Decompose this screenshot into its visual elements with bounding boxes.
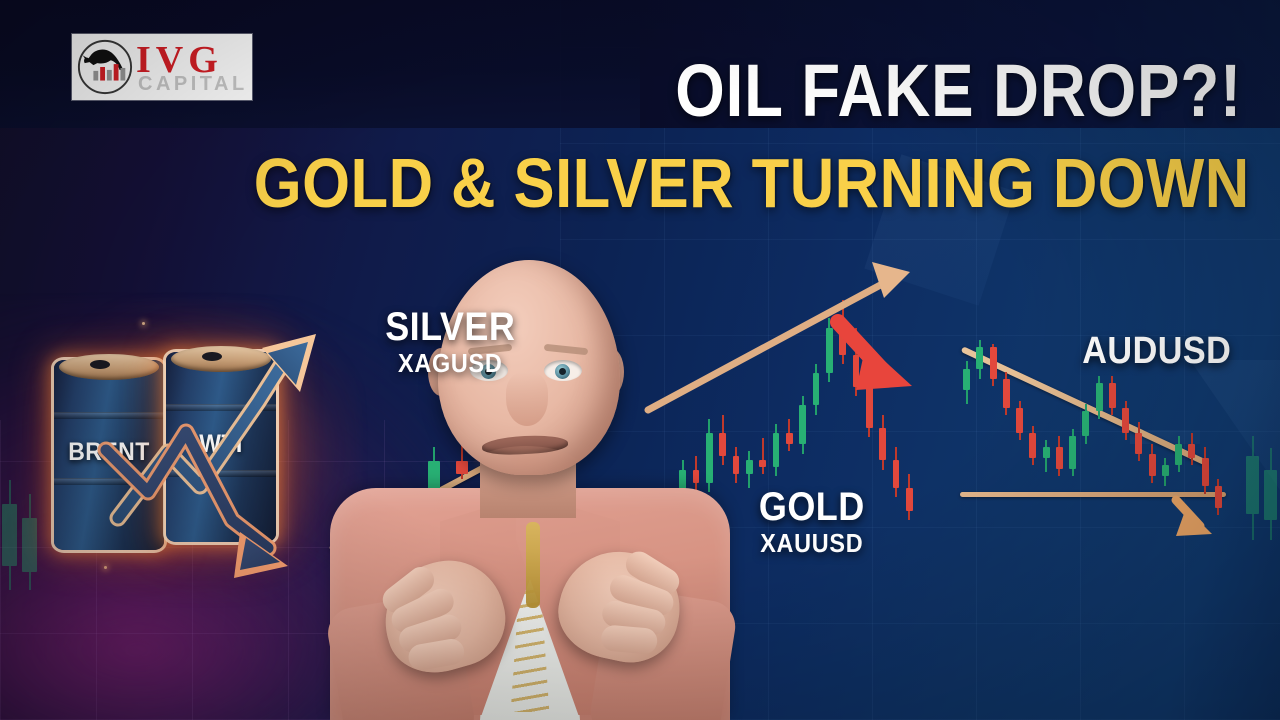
thumbnail-canvas: IVG CAPITAL OIL FAKE DROP?! GOLD & SILVE… xyxy=(0,0,1280,720)
vignette-overlay xyxy=(0,0,1280,720)
